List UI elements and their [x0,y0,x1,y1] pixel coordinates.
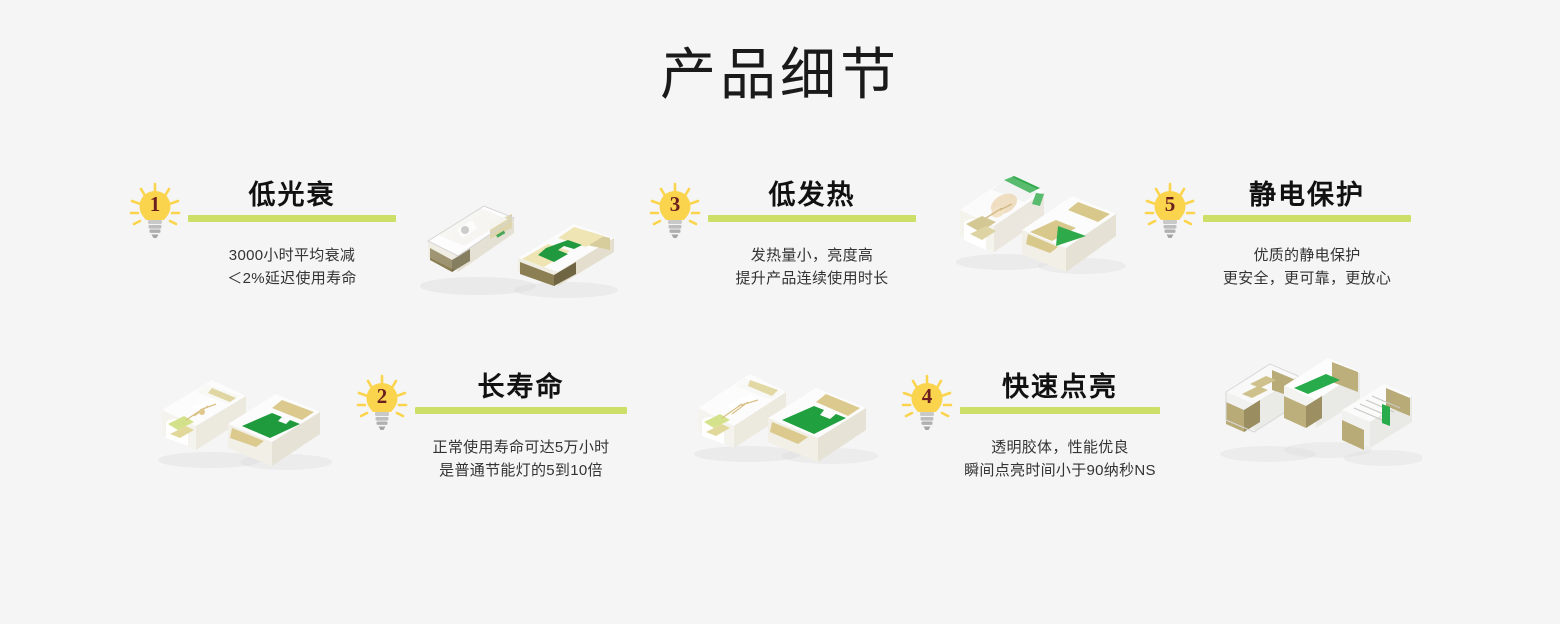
feature-description-line-2: 更安全，更可靠，更放心 [1223,267,1391,290]
feature-description-line-1: 正常使用寿命可达5万小时 [433,436,610,459]
feature-description-line-2: 瞬间点亮时间小于90纳秒NS [964,459,1156,482]
led-photo-chip-trio [1212,350,1422,475]
feature-description-line-2: ＜2%延迟使用寿命 [227,267,356,290]
feature-heading: 低发热 [769,180,856,211]
led-photo-white-body-arrow-pair [952,162,1132,282]
feature-description: 正常使用寿命可达5万小时 是普通节能灯的5到10倍 [433,436,610,483]
feature-description: 3000小时平均衰减 ＜2%延迟使用寿命 [227,244,356,291]
feature-description: 优质的静电保护 更安全，更可靠，更放心 [1223,244,1391,291]
lightbulb-icon: 5 [1143,182,1197,240]
feature-description: 发热量小，亮度高 提升产品连续使用时长 [735,244,888,291]
feature-text-group: 快速点亮 透明胶体，性能优良 瞬间点亮时间小于90纳秒NS [960,372,1160,483]
feature-description: 透明胶体，性能优良 瞬间点亮时间小于90纳秒NS [964,436,1156,483]
feature-description-line-1: 3000小时平均衰减 [227,244,356,267]
lightbulb-icon: 3 [648,182,702,240]
feature-heading: 低光衰 [249,180,336,211]
feature-description-line-1: 优质的静电保护 [1223,244,1391,267]
feature-text-group: 低光衰 3000小时平均衰减 ＜2%延迟使用寿命 [188,180,396,291]
accent-rule [708,215,916,222]
feature-text-group: 低发热 发热量小，亮度高 提升产品连续使用时长 [708,180,916,291]
feature-description-line-1: 发热量小，亮度高 [735,244,888,267]
feature-block-2: 2 长寿命 正常使用寿命可达5万小时 是普通节能灯的5到10倍 [355,372,627,483]
lightbulb-icon: 4 [900,374,954,432]
feature-text-group: 静电保护 优质的静电保护 更安全，更可靠，更放心 [1203,180,1411,291]
page-title: 产品细节 [0,44,1560,106]
feature-block-5: 5 静电保护 优质的静电保护 更安全，更可靠，更放心 [1143,180,1411,291]
feature-text-group: 长寿命 正常使用寿命可达5万小时 是普通节能灯的5到10倍 [415,372,627,483]
feature-heading: 长寿命 [478,372,565,403]
feature-description-line-2: 是普通节能灯的5到10倍 [433,459,610,482]
feature-block-4: 4 快速点亮 透明胶体，性能优良 瞬间点亮时间小于90纳秒NS [900,372,1160,483]
led-photo-transparent-and-green-pair [150,358,335,478]
feature-block-3: 3 低发热 发热量小，亮度高 提升产品连续使用时长 [648,180,916,291]
accent-rule [1203,215,1411,222]
feature-heading: 快速点亮 [1002,372,1118,403]
feature-block-1: 1 低光衰 3000小时平均衰减 ＜2%延迟使用寿命 [128,180,396,291]
lightbulb-icon: 2 [355,374,409,432]
feature-description-line-2: 提升产品连续使用时长 [735,267,888,290]
accent-rule [188,215,396,222]
led-photo-clear-and-green-pair [418,186,628,306]
feature-heading: 静电保护 [1249,180,1365,211]
lightbulb-icon: 1 [128,182,182,240]
accent-rule [960,407,1160,414]
accent-rule [415,407,627,414]
led-photo-green-top-pair [688,352,883,472]
feature-description-line-1: 透明胶体，性能优良 [964,436,1156,459]
